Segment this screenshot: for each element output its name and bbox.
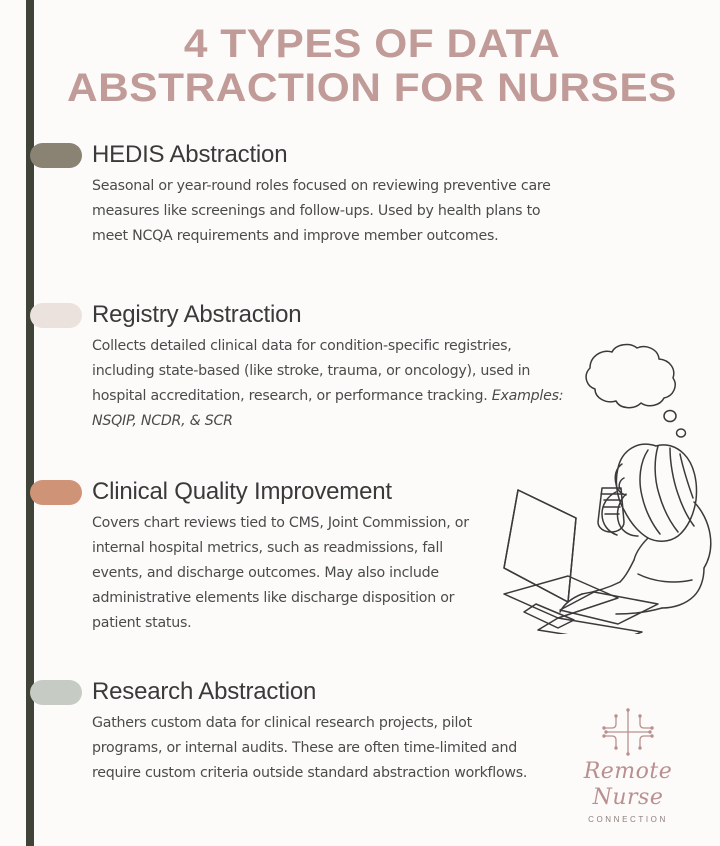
section-body-text: Gathers custom data for clinical researc… [92,715,527,781]
section-heading: Clinical Quality Improvement [92,477,590,507]
section-heading: Research Abstraction [92,677,590,707]
plus-cross-icon [560,706,696,758]
section-body-text: Covers chart reviews tied to CMS, Joint … [92,515,469,631]
section-clinical-quality-improvement: Clinical Quality Improvement Covers char… [30,477,590,636]
section-registry-abstraction: Registry Abstraction Collects detailed c… [30,300,590,434]
section-marker-pill [30,143,82,168]
section-marker-pill [30,480,82,505]
section-hedis-abstraction: HEDIS Abstraction Seasonal or year-round… [30,140,590,249]
logo-wordmark: Remote Nurse [560,759,696,811]
page-title: 4 TYPES OF DATA ABSTRACTION FOR NURSES [52,22,692,110]
section-heading: Registry Abstraction [92,300,590,330]
logo-subtitle: CONNECTION [560,814,696,826]
section-research-abstraction: Research Abstraction Gathers custom data… [30,677,590,786]
section-body: Collects detailed clinical data for cond… [92,334,570,434]
section-heading: HEDIS Abstraction [92,140,590,170]
thought-bubble-icon [586,345,685,437]
section-marker-pill [30,303,82,328]
section-marker-pill [30,680,82,705]
brand-logo: Remote Nurse CONNECTION [560,706,696,810]
section-body: Covers chart reviews tied to CMS, Joint … [92,511,492,636]
section-body: Gathers custom data for clinical researc… [92,711,542,786]
section-body-text: Seasonal or year-round roles focused on … [92,178,551,244]
section-body-text: Collects detailed clinical data for cond… [92,338,530,404]
page-title-line-1: 4 TYPES OF DATA [33,22,711,66]
infographic-canvas: 4 TYPES OF DATA ABSTRACTION FOR NURSES H… [0,0,720,846]
page-title-line-2: ABSTRACTION FOR NURSES [33,66,711,110]
section-body: Seasonal or year-round roles focused on … [92,174,570,249]
